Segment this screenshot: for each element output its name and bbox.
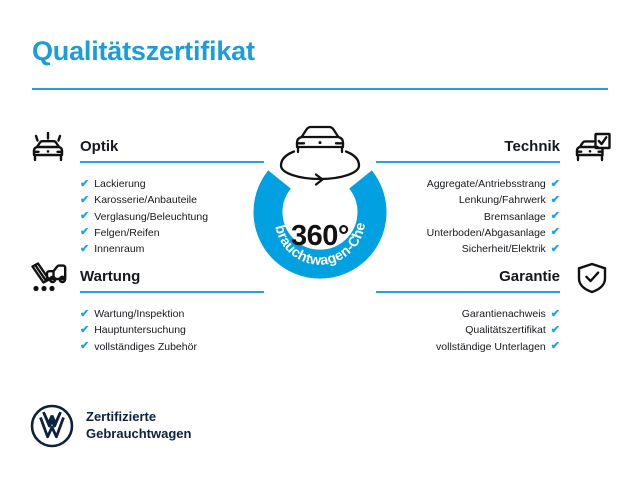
check-icon: ✔ [80, 195, 89, 206]
list-item-label: Wartung/Inspektion [94, 306, 184, 322]
section-heading-group: Technik [376, 128, 560, 163]
list-item-label: Qualitätszertifikat [465, 322, 546, 338]
list-item: ✔vollständige Unterlagen [376, 339, 560, 355]
section-wartung: Wartung ✔Wartung/Inspektion ✔Hauptunters… [26, 258, 264, 355]
list-item-label: Karosserie/Anbauteile [94, 192, 197, 208]
check-icon: ✔ [80, 309, 89, 320]
section-title: Garantie [376, 269, 560, 286]
check-list-garantie: ✔Garantienachweis ✔Qualitätszertifikat ✔… [376, 306, 560, 355]
section-list-wrapper: ✔Garantienachweis ✔Qualitätszertifikat ✔… [376, 306, 560, 355]
section-header: Wartung [26, 258, 264, 298]
check-icon: ✔ [551, 309, 560, 320]
car-service-book-icon [26, 258, 70, 298]
section-list-wrapper: ✔Wartung/Inspektion ✔Hauptuntersuchung ✔… [80, 306, 264, 355]
car-shine-icon [26, 128, 70, 168]
list-item: ✔vollständiges Zubehör [80, 339, 264, 355]
footer-brand: Zertifizierte Gebrauchtwagen [30, 404, 191, 448]
footer-line-2: Gebrauchtwagen [86, 426, 191, 443]
car-checkbox-icon [570, 128, 614, 168]
list-item-label: Verglasung/Beleuchtung [94, 209, 208, 225]
list-item: ✔Hauptuntersuchung [80, 322, 264, 338]
badge-value: 360° [237, 220, 403, 253]
list-item-label: Hauptuntersuchung [94, 322, 186, 338]
list-item-label: Aggregate/Antriebsstrang [427, 176, 546, 192]
list-item-label: Sicherheit/Elektrik [462, 241, 546, 257]
shield-check-icon [570, 258, 614, 298]
check-icon: ✔ [551, 341, 560, 352]
list-item-label: Innenraum [94, 241, 144, 257]
check-icon: ✔ [551, 325, 560, 336]
section-underline [376, 161, 560, 163]
title-divider [32, 88, 608, 90]
section-header: Optik [26, 128, 264, 168]
car-rotate-icon [281, 127, 359, 185]
check-icon: ✔ [80, 325, 89, 336]
check-list-wartung: ✔Wartung/Inspektion ✔Hauptuntersuchung ✔… [80, 306, 264, 355]
list-item-label: vollständiges Zubehör [94, 339, 197, 355]
footer-text: Zertifizierte Gebrauchtwagen [86, 409, 191, 442]
list-item-label: Lackierung [94, 176, 145, 192]
list-item: ✔Unterboden/Abgasanlage [376, 225, 560, 241]
list-item-label: Lenkung/Fahrwerk [459, 192, 546, 208]
certificate-page: Qualitätszertifikat Optik ✔Lack [0, 0, 640, 480]
check-icon: ✔ [551, 211, 560, 222]
list-item: ✔Lenkung/Fahrwerk [376, 192, 560, 208]
section-underline [376, 291, 560, 293]
check-icon: ✔ [80, 341, 89, 352]
volkswagen-logo [30, 404, 74, 448]
check-list-technik: ✔Aggregate/Antriebsstrang ✔Lenkung/Fahrw… [376, 176, 560, 257]
list-item: ✔Qualitätszertifikat [376, 322, 560, 338]
section-header: Technik [376, 128, 614, 168]
footer-line-1: Zertifizierte [86, 409, 191, 426]
section-title: Technik [376, 139, 560, 156]
check-icon: ✔ [80, 179, 89, 190]
list-item-label: Bremsanlage [484, 209, 546, 225]
section-technik: Technik ✔Aggregate/Antriebsstrang ✔Lenku… [376, 128, 614, 257]
section-list-wrapper: ✔Aggregate/Antriebsstrang ✔Lenkung/Fahrw… [376, 176, 560, 257]
check-icon: ✔ [551, 227, 560, 238]
check-icon: ✔ [551, 179, 560, 190]
list-item-label: Unterboden/Abgasanlage [427, 225, 546, 241]
list-item: ✔Aggregate/Antriebsstrang [376, 176, 560, 192]
page-title: Qualitätszertifikat [32, 36, 255, 67]
list-item-label: Felgen/Reifen [94, 225, 159, 241]
section-header: Garantie [376, 258, 614, 298]
list-item: ✔Bremsanlage [376, 209, 560, 225]
check-icon: ✔ [551, 195, 560, 206]
check-icon: ✔ [80, 211, 89, 222]
check-icon: ✔ [80, 227, 89, 238]
section-garantie: Garantie ✔Garantienachweis ✔Qualitätszer… [376, 258, 614, 355]
section-optik: Optik ✔Lackierung ✔Karosserie/Anbauteile… [26, 128, 264, 257]
section-heading-group: Garantie [376, 258, 560, 293]
check-icon: ✔ [80, 244, 89, 255]
list-item: ✔Wartung/Inspektion [80, 306, 264, 322]
list-item-label: Garantienachweis [462, 306, 546, 322]
list-item: ✔Sicherheit/Elektrik [376, 241, 560, 257]
list-item: ✔Garantienachweis [376, 306, 560, 322]
check-icon: ✔ [551, 244, 560, 255]
list-item-label: vollständige Unterlagen [436, 339, 546, 355]
badge-360-gebrauchtwagen-check: Gebrauchtwagen-Check 360° [237, 119, 403, 305]
